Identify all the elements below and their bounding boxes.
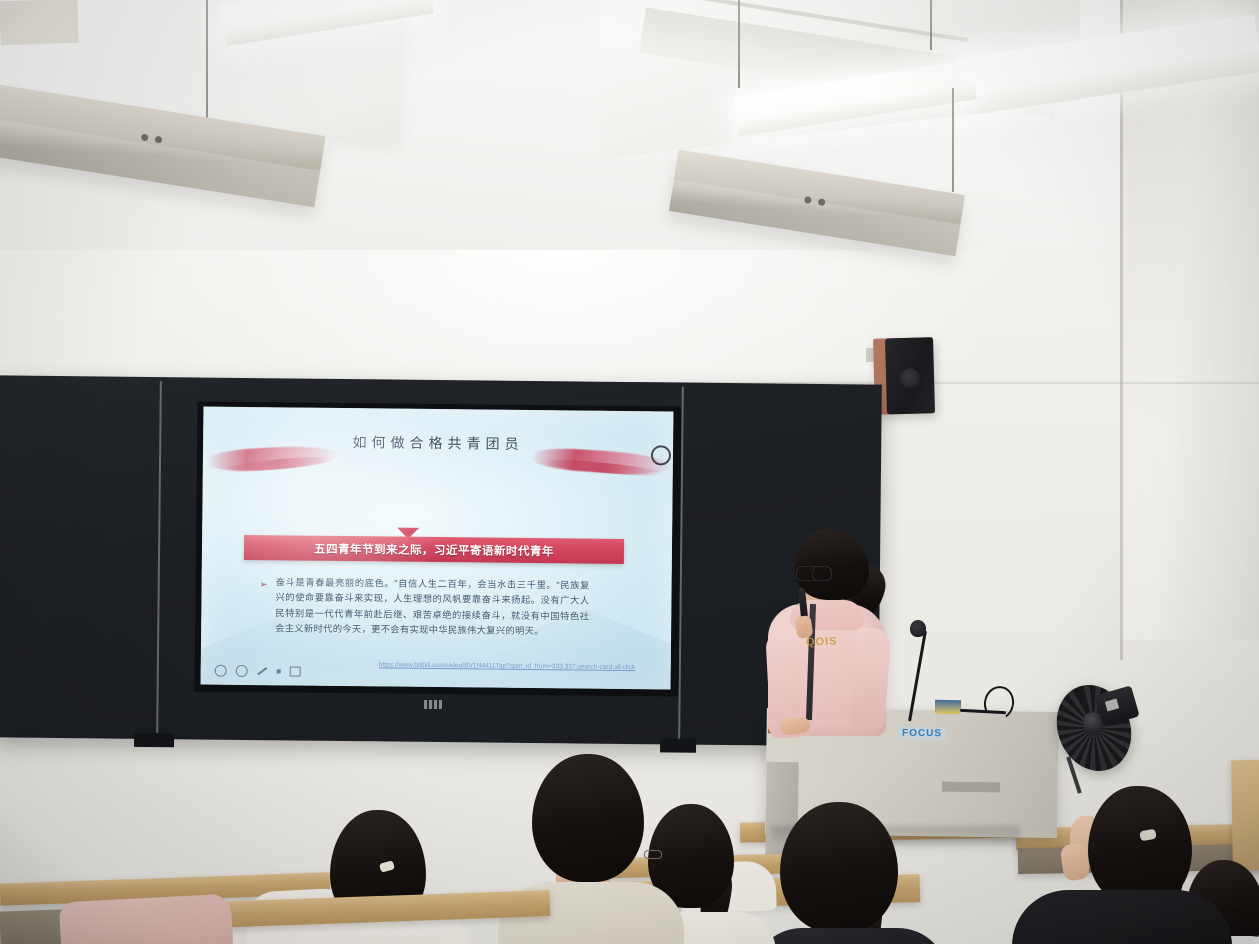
right-wall-return [1120,0,1259,640]
pink-bag [59,894,233,944]
presenter-hand-holding-mic [795,615,814,639]
classroom-photo-scene: 如何做合格共青团员 五四青年节到来之际，习近平寄语新时代青年 ➢ 奋斗是青春最亮… [0,0,1259,944]
fixture-screw [155,136,163,144]
fixture-screw [141,133,149,141]
bullet-marker-icon: ➢ [260,579,268,590]
pen-icon[interactable] [257,667,267,675]
slide-body-block: ➢ 奋斗是青春最亮丽的底色。"自信人生二百年，会当水击三千里。"民族复兴的使命要… [259,575,590,640]
slide-body-text: 奋斗是青春最亮丽的底色。"自信人生二百年，会当水击三千里。"民族复兴的使命要靠奋… [275,575,590,640]
eyeglasses-icon [812,566,832,581]
lectern-brand-label: FOCUS [898,727,946,741]
head [780,802,898,932]
slide-banner-text: 五四青年节到来之际，习近平寄语新时代青年 [314,540,554,559]
shape-circle-icon[interactable] [236,665,248,677]
eyeglasses-icon [644,850,662,859]
wall-speaker [873,337,935,415]
pen-circle-icon[interactable] [215,665,227,677]
eraser-icon[interactable] [290,666,301,676]
light-suspension-rod [952,88,954,192]
presenter-right-arm [849,627,892,729]
light-suspension-rod [206,0,208,128]
projection-screen[interactable]: 如何做合格共青团员 五四青年节到来之际，习近平寄语新时代青年 ➢ 奋斗是青春最亮… [201,407,674,690]
slide-annotation-toolbar[interactable] [215,665,301,678]
speaker-driver-icon [900,368,921,389]
desk-side-panel [1231,760,1259,871]
hoodie-graphic-text: QOIS [806,635,838,648]
blackboard-mount [660,738,696,752]
lectern-vent-slot [942,782,1000,793]
blackboard-mount [134,733,174,747]
microphone-base [935,700,961,714]
dot-icon[interactable] [277,669,281,673]
chair-back [0,0,79,45]
hand [1060,842,1091,881]
head [1088,786,1192,906]
slide-ornament-circle-icon [651,445,671,465]
head [532,754,644,882]
slide-banner: 五四青年节到来之际，习近平寄语新时代青年 [244,535,624,564]
light-suspension-rod [738,0,740,88]
blackboard-panel-seam [156,381,162,733]
torso [1012,890,1232,944]
light-suspension-rod [930,0,932,50]
speaker-grille [885,337,935,414]
wall-corner-edge [1120,0,1123,660]
microphone-icon [910,620,926,637]
screen-status-indicator [424,700,442,709]
